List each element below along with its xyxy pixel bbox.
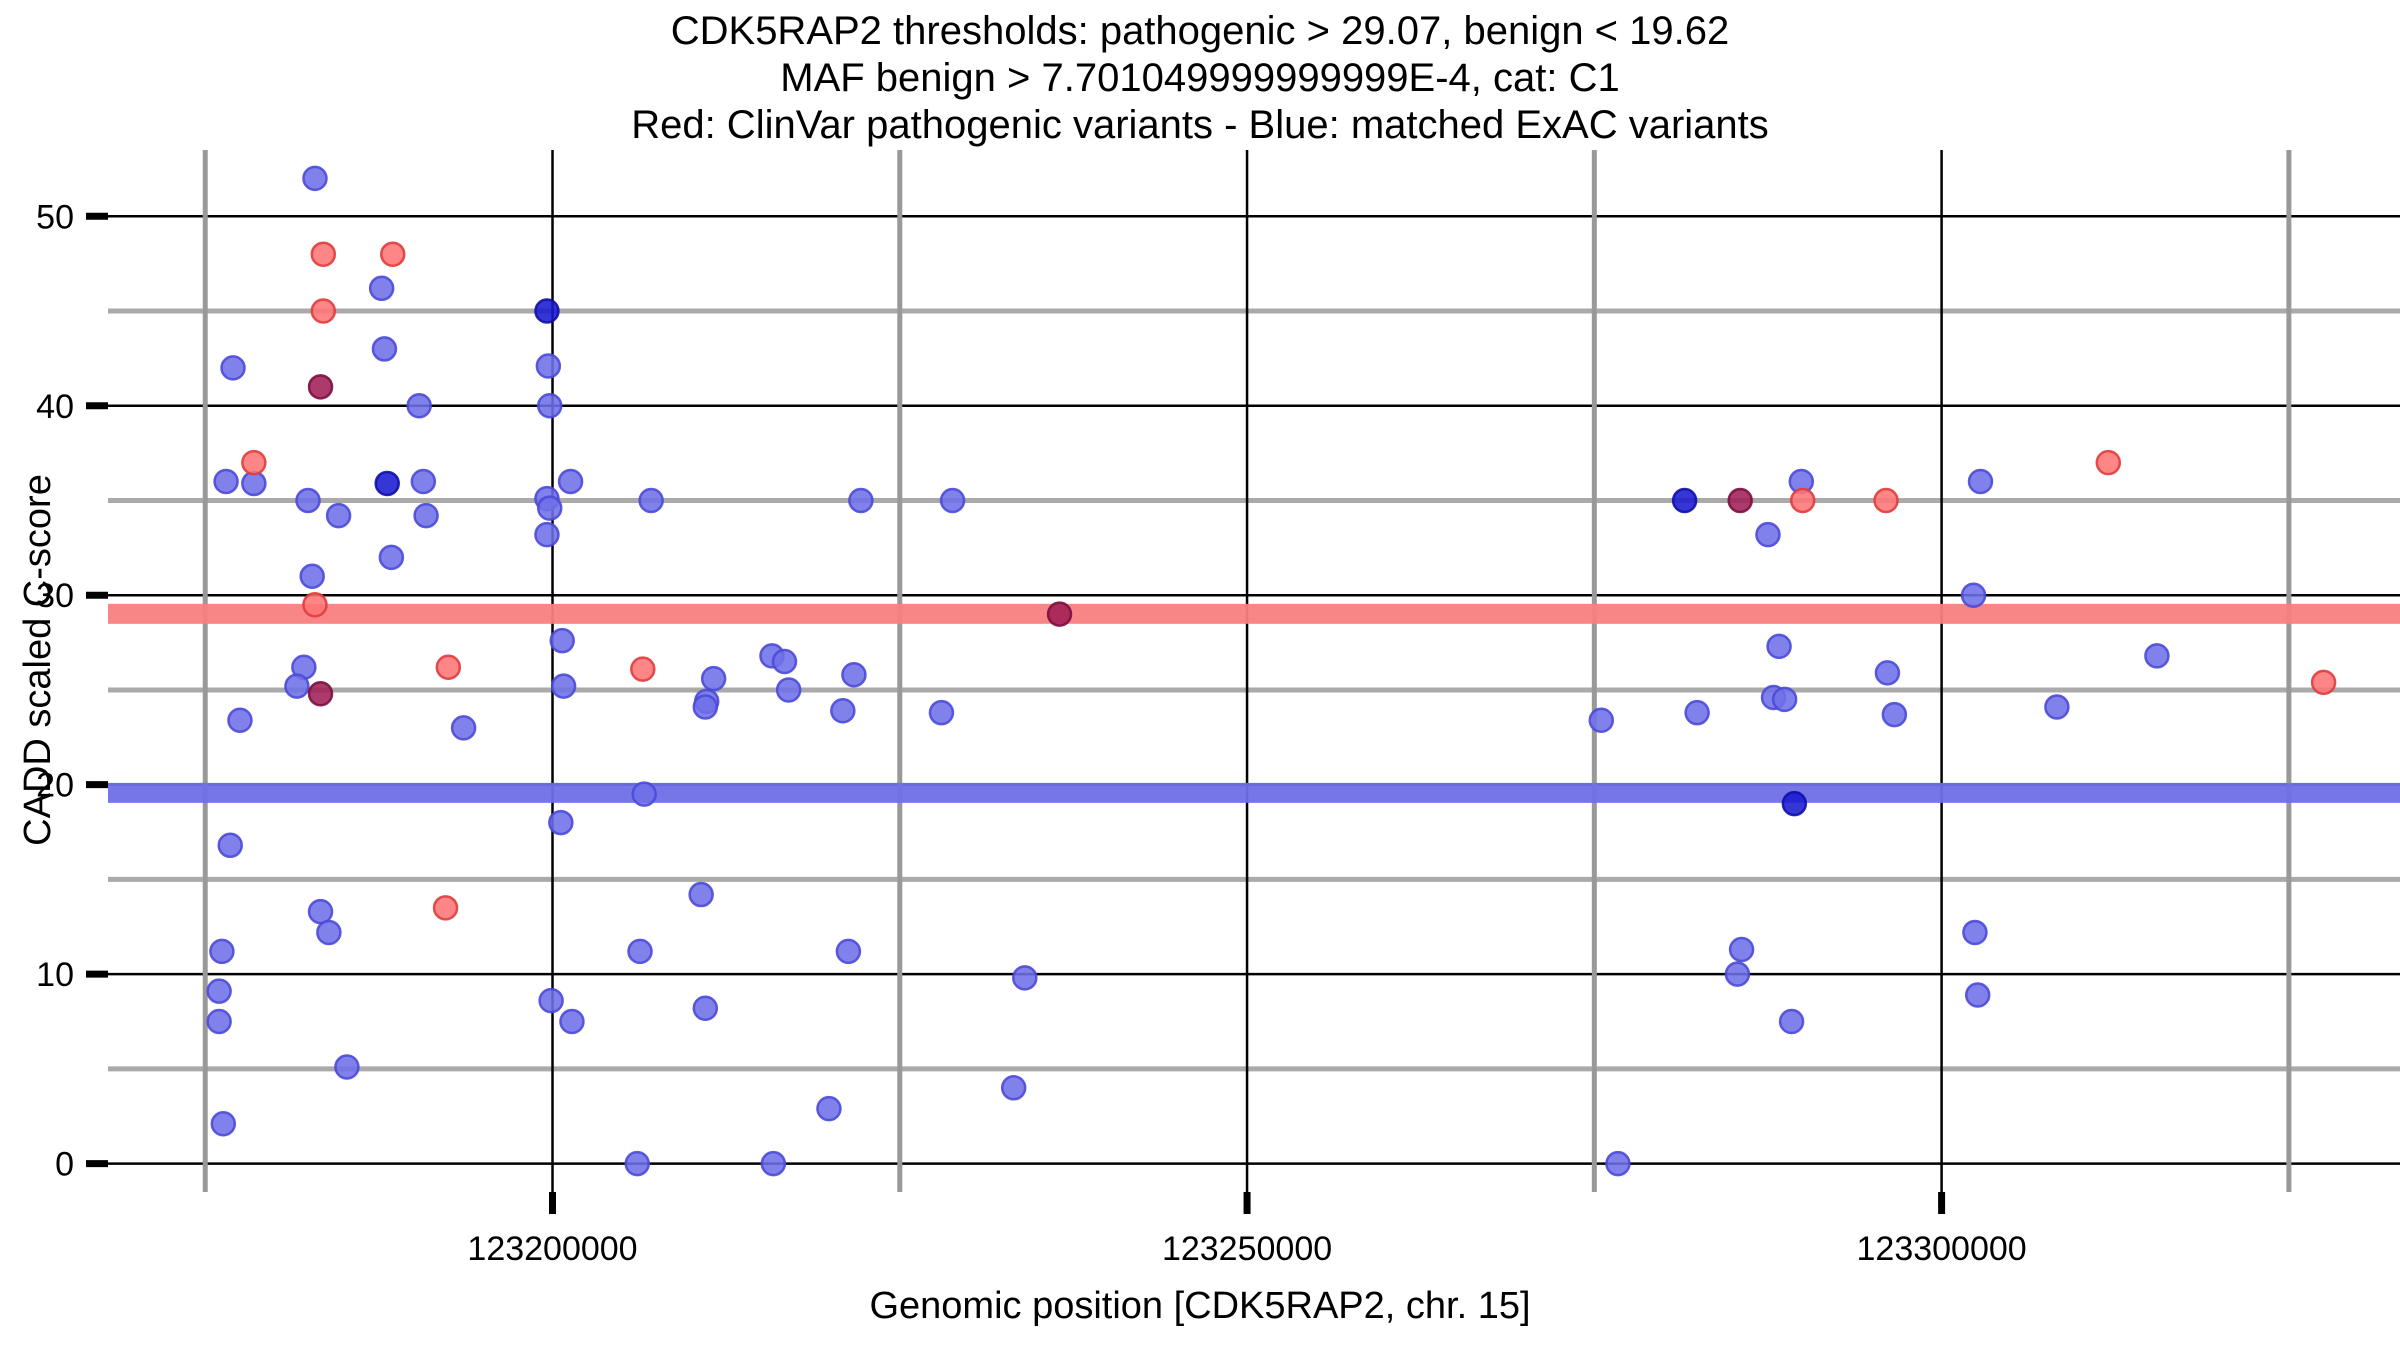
benign-data-point	[380, 546, 403, 569]
benign-data-point	[538, 497, 561, 520]
benign-data-point	[551, 629, 574, 652]
benign-data-point	[849, 489, 872, 512]
benign-data-point	[1963, 921, 1986, 944]
pathogenic-data-point	[2097, 451, 2120, 474]
benign-data-point	[777, 678, 800, 701]
pathogenic-data-point	[1791, 489, 1814, 512]
benign-point-group	[208, 167, 2169, 1175]
benign-data-point	[1966, 983, 1989, 1006]
y-axis-ticks	[86, 216, 108, 1163]
benign-data-point	[842, 663, 865, 686]
benign-data-point	[222, 356, 245, 379]
threshold-band-benign	[108, 783, 2400, 803]
benign-data-point	[817, 1097, 840, 1120]
benign-data-point	[626, 1152, 649, 1175]
benign-data-point	[773, 650, 796, 673]
benign-data-point	[219, 834, 242, 857]
x-axis-ticks	[553, 1192, 1942, 1214]
pathogenic-data-point	[312, 243, 335, 266]
x-tick-label: 123250000	[1162, 1230, 1332, 1268]
benign-data-point	[370, 277, 393, 300]
pathogenic-data-point	[1729, 489, 1752, 512]
benign-data-point	[208, 980, 231, 1003]
benign-data-point	[1780, 1010, 1803, 1033]
x-axis-title: Genomic position [CDK5RAP2, chr. 15]	[869, 1285, 1530, 1327]
x-tick-label: 123300000	[1857, 1230, 2027, 1268]
benign-data-point	[335, 1055, 358, 1078]
benign-data-point	[633, 783, 656, 806]
pathogenic-data-point	[381, 243, 404, 266]
pathogenic-data-point	[437, 656, 460, 679]
benign-data-point	[640, 489, 663, 512]
pathogenic-data-point	[303, 593, 326, 616]
pathogenic-data-point	[434, 896, 457, 919]
benign-data-point	[1883, 703, 1906, 726]
benign-data-point	[1768, 635, 1791, 658]
benign-data-point	[2145, 644, 2168, 667]
benign-data-point	[831, 699, 854, 722]
x-tick-label: 123200000	[467, 1230, 637, 1268]
benign-data-point	[327, 504, 350, 527]
benign-data-point	[215, 470, 238, 493]
benign-data-point	[242, 472, 265, 495]
benign-data-point	[309, 900, 332, 923]
benign-data-point	[537, 354, 560, 377]
benign-data-point	[2045, 695, 2068, 718]
benign-data-point	[373, 337, 396, 360]
benign-data-point	[1876, 661, 1899, 684]
y-tick-label: 10	[36, 956, 74, 994]
benign-data-point	[303, 167, 326, 190]
benign-data-point	[930, 701, 953, 724]
benign-data-point	[690, 883, 713, 906]
y-tick-label: 0	[55, 1146, 74, 1184]
benign-data-point	[538, 394, 561, 417]
benign-data-point	[560, 1010, 583, 1033]
benign-data-point	[208, 1010, 231, 1033]
benign-data-point	[376, 472, 399, 495]
benign-data-point	[212, 1112, 235, 1135]
pathogenic-data-point	[312, 300, 335, 323]
pathogenic-data-point	[631, 658, 654, 681]
benign-data-point	[1606, 1152, 1629, 1175]
benign-data-point	[1756, 523, 1779, 546]
benign-data-point	[297, 489, 320, 512]
benign-data-point	[1730, 938, 1753, 961]
pathogenic-data-point	[309, 375, 332, 398]
benign-data-point	[762, 1152, 785, 1175]
y-axis-title: CADD scaled C-score	[17, 474, 59, 846]
benign-data-point	[1686, 701, 1709, 724]
benign-data-point	[1002, 1076, 1025, 1099]
scatter-plot-canvas: 01020304050 123200000123250000123300000 …	[0, 0, 2400, 1350]
benign-data-point	[412, 470, 435, 493]
benign-data-point	[1013, 966, 1036, 989]
benign-data-point	[210, 940, 233, 963]
benign-data-point	[228, 709, 251, 732]
benign-data-point	[629, 940, 652, 963]
x-axis-tick-labels: 123200000123250000123300000	[467, 1230, 2026, 1268]
benign-data-point	[1962, 584, 1985, 607]
y-tick-label: 40	[36, 388, 74, 426]
benign-data-point	[317, 921, 340, 944]
benign-data-point	[702, 667, 725, 690]
pathogenic-data-point	[1048, 603, 1071, 626]
benign-data-point	[408, 394, 431, 417]
benign-data-point	[301, 565, 324, 588]
benign-data-point	[941, 489, 964, 512]
benign-data-point	[452, 716, 475, 739]
benign-data-point	[540, 989, 563, 1012]
benign-data-point	[694, 997, 717, 1020]
benign-data-point	[1773, 688, 1796, 711]
benign-data-point	[559, 470, 582, 493]
pathogenic-data-point	[1875, 489, 1898, 512]
pathogenic-data-point	[309, 682, 332, 705]
pathogenic-data-point	[2312, 671, 2335, 694]
benign-data-point	[285, 675, 308, 698]
minor-horizontal-gridlines	[108, 311, 2400, 1069]
benign-data-point	[1783, 792, 1806, 815]
benign-data-point	[535, 300, 558, 323]
threshold-band-pathogenic	[108, 604, 2400, 624]
pathogenic-data-point	[242, 451, 265, 474]
benign-data-point	[694, 695, 717, 718]
benign-data-point	[549, 811, 572, 834]
benign-data-point	[415, 504, 438, 527]
benign-data-point	[1673, 489, 1696, 512]
benign-data-point	[837, 940, 860, 963]
chart-figure: CDK5RAP2 thresholds: pathogenic > 29.07,…	[0, 0, 2400, 1350]
major-vertical-gridlines	[553, 150, 1942, 1192]
y-tick-label: 50	[36, 198, 74, 236]
benign-data-point	[1726, 963, 1749, 986]
benign-data-point	[552, 675, 575, 698]
benign-data-point	[1590, 709, 1613, 732]
benign-data-point	[1969, 470, 1992, 493]
benign-data-point	[535, 523, 558, 546]
